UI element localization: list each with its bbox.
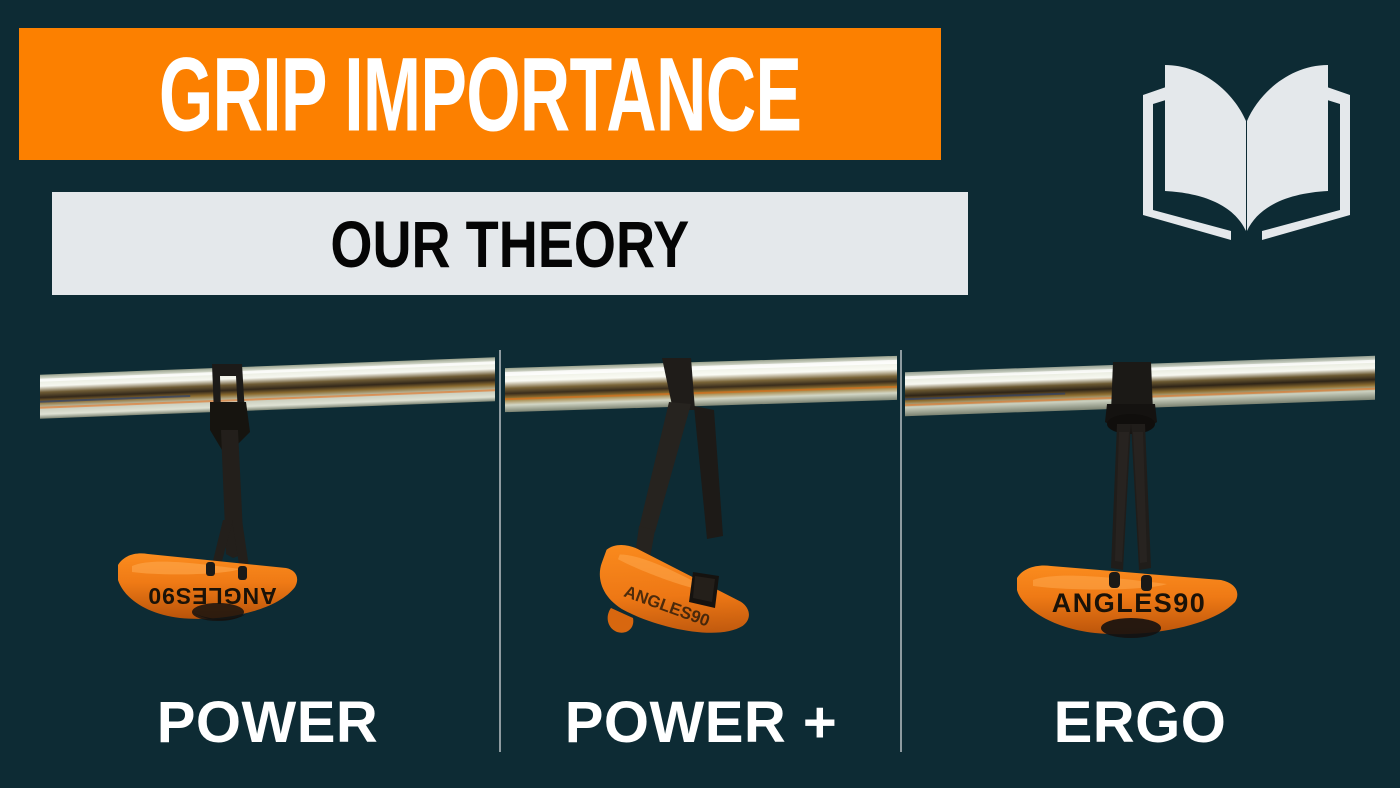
product-photo-power-plus: ANGLES90 [505, 340, 897, 640]
column-divider-2 [900, 350, 902, 752]
open-book-icon [1139, 55, 1354, 240]
column-label-ergo: ERGO [905, 694, 1375, 752]
product-column-ergo: ANGLES90 ERGO [905, 340, 1375, 760]
column-divider-1 [499, 350, 501, 752]
product-photo-power: ANGLES90 [40, 340, 495, 640]
svg-text:ANGLES90: ANGLES90 [147, 583, 276, 609]
product-photo-ergo: ANGLES90 [905, 340, 1375, 640]
page-title: GRIP IMPORTANCE [159, 42, 801, 147]
product-column-power: ANGLES90 POWER [40, 340, 495, 760]
title-banner: GRIP IMPORTANCE [19, 28, 941, 160]
product-comparison-row: ANGLES90 POWER [0, 340, 1400, 760]
slide-root: GRIP IMPORTANCE OUR THEORY [0, 0, 1400, 788]
column-label-power: POWER [40, 694, 495, 752]
column-label-power-plus: POWER + [505, 694, 897, 752]
subtitle-bar: OUR THEORY [52, 192, 968, 295]
product-column-power-plus: ANGLES90 POWER + [505, 340, 897, 760]
svg-text:ANGLES90: ANGLES90 [1052, 588, 1207, 618]
subtitle-text: OUR THEORY [331, 211, 690, 277]
